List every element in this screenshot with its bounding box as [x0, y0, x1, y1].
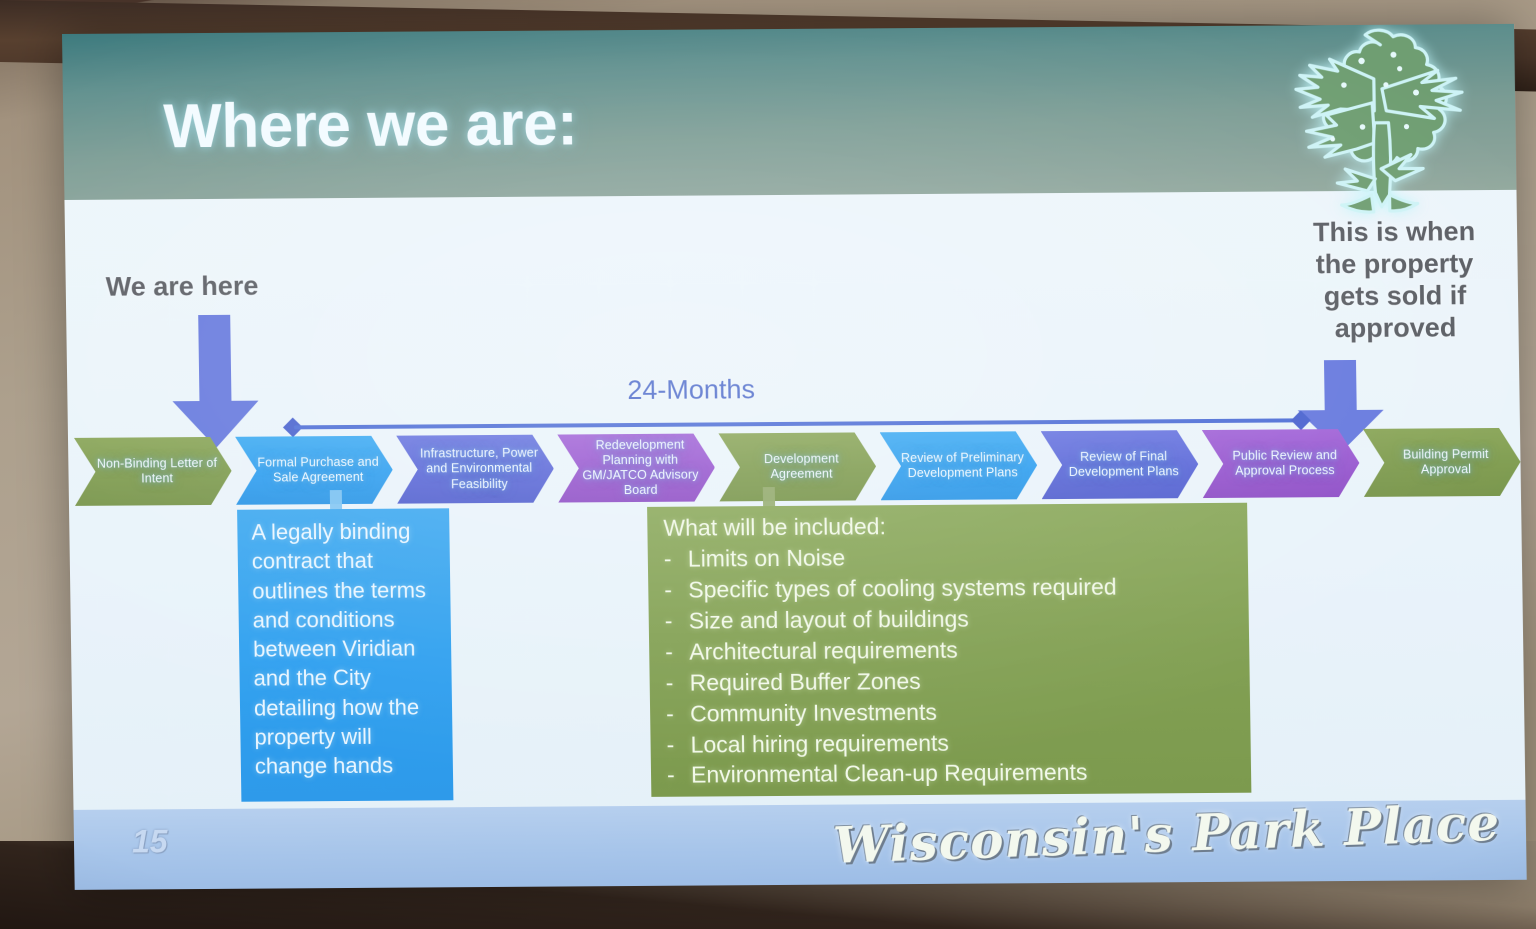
process-step-4[interactable]: Redevelopment Planning with GM/JATCO Adv… — [557, 433, 715, 502]
list-item: - Specific types of cooling systems requ… — [664, 571, 1236, 606]
bullet-dash: - — [665, 667, 675, 698]
slide-canvas: Where we are: — [62, 24, 1527, 890]
list-item: - Community Investments — [666, 694, 1238, 729]
list-item: - Environmental Clean-up Requirements — [667, 756, 1239, 791]
projection-room: Where we are: — [0, 0, 1536, 929]
list-item: - Architectural requirements — [665, 633, 1237, 668]
bullet-dash: - — [667, 760, 677, 791]
list-item-label: Size and layout of buildings — [689, 604, 969, 637]
list-item: - Local hiring requirements — [666, 725, 1238, 760]
process-step-label: Public Review and Approval Process — [1222, 448, 1348, 479]
process-step-label: Formal Purchase and Sale Agreement — [255, 455, 381, 486]
process-step-label: Infrastructure, Power and Environmental … — [416, 446, 542, 493]
tree-logo-icon — [1269, 24, 1487, 225]
list-item-label: Local hiring requirements — [690, 727, 949, 760]
process-step-label: Building Permit Approval — [1383, 447, 1509, 478]
process-chevron-row: Non-Binding Letter of Intent Formal Purc… — [74, 428, 1521, 506]
process-step-7[interactable]: Review of Final Development Plans — [1041, 430, 1199, 499]
list-item-label: Community Investments — [690, 696, 937, 729]
slide-footer: 15 Wisconsin's Park Place — [74, 800, 1527, 890]
contract-callout-text: A legally binding contract that outlines… — [251, 516, 443, 781]
process-step-label: Review of Final Development Plans — [1061, 449, 1187, 480]
list-item-label: Environmental Clean-up Requirements — [691, 757, 1088, 791]
brand-wordmark: Wisconsin's Park Place — [832, 793, 1501, 875]
included-callout-box: What will be included: - Limits on Noise… — [647, 503, 1251, 797]
process-step-5[interactable]: Development Agreement — [718, 432, 876, 501]
contract-callout-box: A legally binding contract that outlines… — [237, 508, 453, 801]
bullet-dash: - — [665, 636, 675, 667]
process-step-label: Development Agreement — [739, 451, 865, 482]
process-step-8[interactable]: Public Review and Approval Process — [1202, 429, 1360, 498]
down-arrow-icon — [171, 315, 259, 449]
list-item-label: Specific types of cooling systems requir… — [688, 572, 1117, 606]
property-sold-note: This is when the property gets sold if a… — [1289, 216, 1501, 345]
process-step-9[interactable]: Building Permit Approval — [1363, 428, 1521, 497]
process-step-6[interactable]: Review of Preliminary Development Plans — [880, 431, 1038, 500]
included-list: - Limits on Noise - Specific types of co… — [664, 540, 1240, 791]
list-item: - Size and layout of buildings — [665, 602, 1237, 637]
process-step-label: Non-Binding Letter of Intent — [94, 456, 220, 487]
list-item-label: Limits on Noise — [688, 543, 846, 575]
included-callout-heading: What will be included: — [663, 511, 1235, 542]
list-item-label: Required Buffer Zones — [689, 666, 920, 699]
bullet-dash: - — [665, 606, 675, 637]
bullet-dash: - — [666, 729, 676, 760]
bullet-dash: - — [664, 575, 674, 606]
list-item-label: Architectural requirements — [689, 635, 958, 668]
bullet-dash: - — [664, 544, 674, 575]
process-step-label: Review of Preliminary Development Plans — [900, 450, 1026, 481]
timeline-line — [294, 418, 1300, 429]
timeline-duration-label: 24-Months — [627, 374, 755, 406]
process-step-2[interactable]: Formal Purchase and Sale Agreement — [235, 436, 393, 505]
list-item: - Required Buffer Zones — [665, 663, 1237, 698]
page-number: 15 — [132, 823, 168, 860]
projected-slide: Where we are: — [62, 24, 1527, 890]
process-step-1[interactable]: Non-Binding Letter of Intent — [74, 437, 232, 506]
list-item: - Limits on Noise — [664, 540, 1236, 575]
process-step-label: Redevelopment Planning with GM/JATCO Adv… — [577, 437, 703, 499]
page-title: Where we are: — [163, 88, 578, 162]
process-step-3[interactable]: Infrastructure, Power and Environmental … — [396, 435, 554, 504]
we-are-here-label: We are here — [106, 271, 259, 303]
bullet-dash: - — [666, 698, 676, 729]
